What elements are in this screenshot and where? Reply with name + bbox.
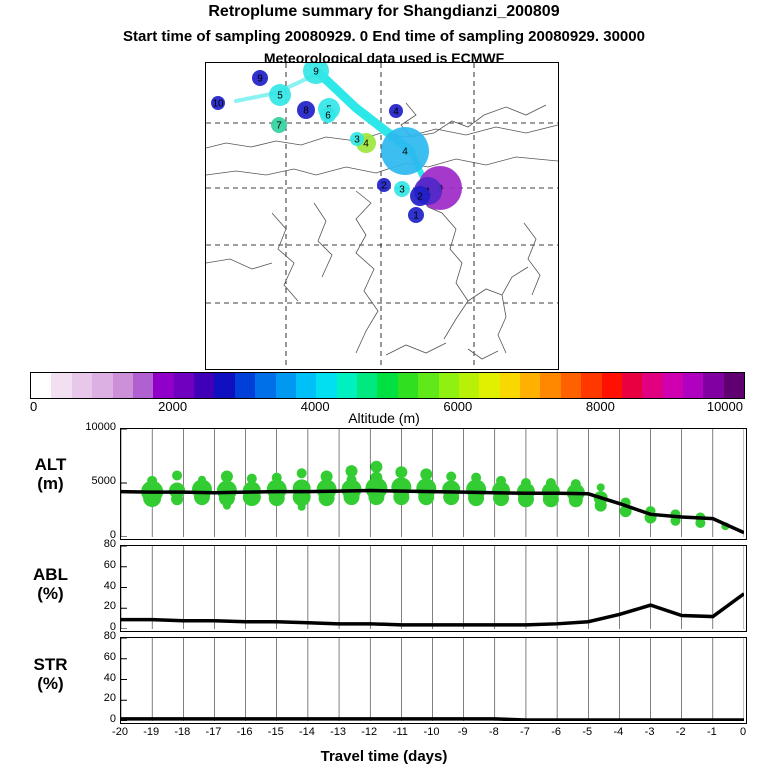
map-marker-label: 2 — [381, 181, 387, 192]
x-tick-label: -16 — [231, 726, 259, 738]
colorbar-swatch — [663, 373, 683, 398]
alt-label-line1: ALT — [8, 455, 93, 474]
y-tick-label: 20 — [70, 600, 116, 612]
colorbar-swatch — [235, 373, 255, 398]
x-tick-label: -19 — [137, 726, 165, 738]
map-marker-label: 9 — [313, 67, 319, 78]
colorbar-swatch — [724, 373, 744, 398]
x-tick-label: -15 — [262, 726, 290, 738]
colorbar-swatch — [92, 373, 112, 398]
map-marker-label: 4 — [393, 107, 399, 118]
y-tick-label: 40 — [70, 672, 116, 684]
y-tick-label: 10000 — [70, 421, 116, 433]
scatter-point — [171, 493, 183, 505]
x-tick-label: -4 — [604, 726, 632, 738]
map-marker-label: 3 — [399, 185, 405, 196]
x-tick-label: -10 — [418, 726, 446, 738]
alt-panel — [120, 428, 747, 540]
y-tick-label: 60 — [70, 651, 116, 663]
colorbar-swatch — [602, 373, 622, 398]
colorbar-swatch — [194, 373, 214, 398]
map-marker-label: 5 — [277, 91, 283, 102]
x-tick-label: 0 — [729, 726, 757, 738]
x-tick-label: -1 — [698, 726, 726, 738]
map-markers-layer: 1099587564434230121 — [206, 63, 558, 369]
colorbar-swatch — [622, 373, 642, 398]
colorbar-swatch — [377, 373, 397, 398]
map-marker-label: 8 — [303, 106, 309, 117]
scatter-point — [223, 502, 231, 510]
altitude-colorbar — [30, 372, 745, 399]
sampling-time-subtitle: Start time of sampling 20080929. 0 End t… — [0, 28, 768, 45]
x-tick-label: -3 — [636, 726, 664, 738]
colorbar-swatch — [479, 373, 499, 398]
x-tick-label: -9 — [449, 726, 477, 738]
colorbar-swatch — [31, 373, 51, 398]
x-axis-label: Travel time (days) — [0, 748, 768, 765]
x-tick-label: -5 — [573, 726, 601, 738]
colorbar-swatch — [51, 373, 71, 398]
colorbar-swatch — [540, 373, 560, 398]
colorbar-swatch — [418, 373, 438, 398]
y-tick-label: 60 — [70, 559, 116, 571]
colorbar-swatch — [174, 373, 194, 398]
map-marker-label: 1 — [413, 211, 419, 222]
retroplume-map: 1099587564434230121 — [205, 62, 559, 370]
alt-axis-label: ALT (m) — [8, 455, 93, 493]
x-tick-label: -17 — [199, 726, 227, 738]
colorbar-swatch — [276, 373, 296, 398]
scatter-point — [446, 472, 456, 482]
abl-panel — [120, 545, 747, 632]
scatter-point — [395, 466, 407, 478]
x-tick-label: -20 — [106, 726, 134, 738]
y-tick-label: 20 — [70, 692, 116, 704]
scatter-point — [172, 470, 182, 480]
scatter-point — [298, 503, 306, 511]
y-tick-label: 80 — [70, 630, 116, 642]
colorbar-swatch — [255, 373, 275, 398]
series-line — [121, 719, 744, 720]
map-marker-label: 4 — [402, 147, 408, 158]
alt-plot — [121, 429, 744, 537]
scatter-point — [597, 483, 605, 491]
x-tick-label: -6 — [542, 726, 570, 738]
scatter-point — [595, 500, 607, 512]
colorbar-swatch — [439, 373, 459, 398]
colorbar-swatch — [581, 373, 601, 398]
colorbar-swatch — [520, 373, 540, 398]
colorbar-swatch — [703, 373, 723, 398]
x-tick-label: -12 — [355, 726, 383, 738]
x-tick-label: -8 — [480, 726, 508, 738]
str-panel — [120, 637, 747, 724]
map-marker-label: 6 — [325, 111, 331, 122]
colorbar-swatch — [459, 373, 479, 398]
y-tick-label: 0 — [70, 713, 116, 725]
str-plot — [121, 638, 744, 721]
colorbar-swatch — [642, 373, 662, 398]
x-tick-label: -11 — [386, 726, 414, 738]
map-marker-label: 7 — [276, 121, 282, 132]
colorbar-swatch — [72, 373, 92, 398]
map-marker-label: 2 — [417, 192, 423, 203]
colorbar-swatch — [683, 373, 703, 398]
colorbar-swatch — [337, 373, 357, 398]
colorbar-swatch — [133, 373, 153, 398]
y-tick-label: 5000 — [70, 475, 116, 487]
x-tick-label: -7 — [511, 726, 539, 738]
abl-plot — [121, 546, 744, 629]
colorbar-swatch — [214, 373, 234, 398]
colorbar-swatch — [153, 373, 173, 398]
x-tick-label: -2 — [667, 726, 695, 738]
map-marker-label: 3 — [354, 135, 360, 146]
scatter-point — [370, 461, 382, 473]
colorbar-swatch — [316, 373, 336, 398]
page-title: Retroplume summary for Shangdianzi_20080… — [0, 3, 768, 21]
colorbar-swatch — [357, 373, 377, 398]
colorbar-swatch — [296, 373, 316, 398]
colorbar-swatch — [398, 373, 418, 398]
colorbar-swatch — [113, 373, 133, 398]
y-tick-label: 80 — [70, 538, 116, 550]
map-marker-label: 9 — [257, 74, 263, 85]
colorbar-swatch — [561, 373, 581, 398]
x-tick-label: -18 — [168, 726, 196, 738]
y-tick-label: 40 — [70, 580, 116, 592]
scatter-point — [297, 468, 307, 478]
map-marker-label: 4 — [363, 139, 369, 150]
map-marker-label: 10 — [212, 99, 224, 110]
x-tick-label: -13 — [324, 726, 352, 738]
x-tick-label: -14 — [293, 726, 321, 738]
colorbar-swatch — [500, 373, 520, 398]
